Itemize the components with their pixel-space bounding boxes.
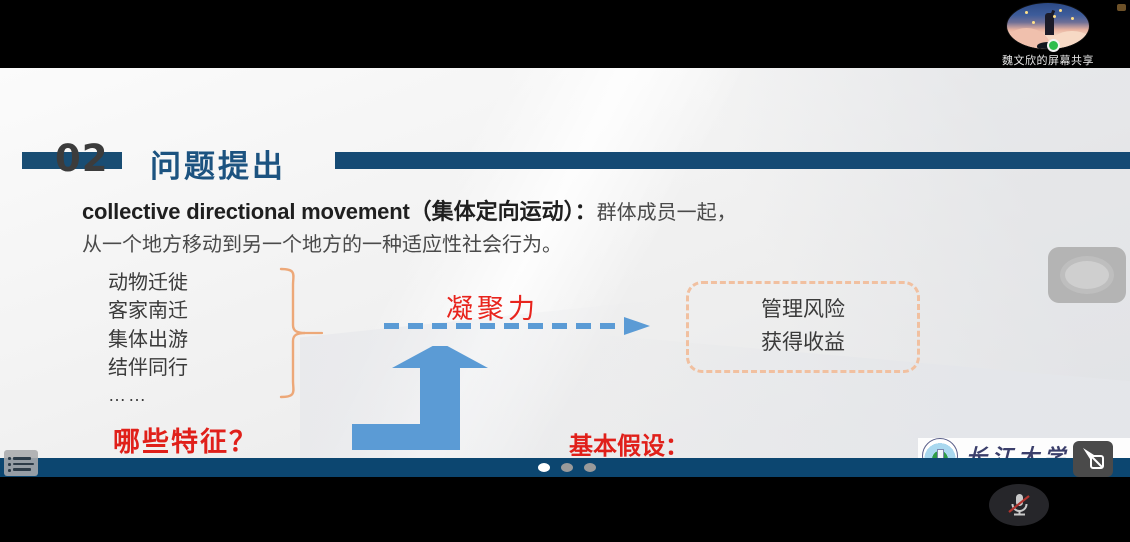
definition-line1-tail: 群体成员一起， (597, 202, 737, 224)
definition-chinese-term: （集体定向运动）： (410, 199, 597, 224)
avatar[interactable] (1006, 2, 1090, 50)
pagination-dot[interactable] (561, 463, 573, 472)
list-item: 动物迁徙 (108, 269, 188, 297)
pen-icon (1080, 445, 1106, 471)
avatar-star (1059, 9, 1062, 12)
topbar-indicator (1117, 4, 1126, 11)
hypothesis-line-1: 基本假设： (569, 431, 953, 458)
dashed-arrow-right-icon (382, 313, 652, 339)
annotate-pen-button[interactable] (1073, 441, 1113, 477)
screen-share-label: 魏文欣的屏幕共享 (968, 52, 1128, 66)
avatar-star (1053, 15, 1056, 18)
floating-thumbnail-inner (1065, 261, 1109, 289)
outcome-line-2: 获得收益 (761, 327, 845, 360)
meeting-bottom-bar (0, 477, 1130, 542)
list-item: 集体出游 (108, 326, 188, 354)
slide-pagination-dots[interactable] (538, 458, 598, 476)
avatar-star (1025, 11, 1028, 14)
pagination-dot[interactable] (538, 463, 550, 472)
outcome-line-1: 管理风险 (761, 294, 845, 327)
status-online-icon (1047, 39, 1060, 52)
hypothesis-text: 基本假设： 集体定向运动促进社会凝聚力的感知 (569, 431, 953, 458)
microphone-muted-icon (1005, 492, 1033, 518)
outcome-box: 管理风险 获得收益 (686, 281, 920, 373)
slide-menu-icon[interactable] (4, 450, 38, 476)
presentation-slide[interactable]: 02 问题提出 collective directional movement（… (0, 68, 1130, 458)
avatar-star (1032, 21, 1035, 24)
avatar-star (1071, 17, 1074, 20)
list-item: 结伴同行 (108, 354, 188, 382)
definition-line2: 从一个地方移动到另一个地方的一种适应性社会行为。 (82, 231, 1112, 259)
meeting-top-bar: 魏文欣的屏幕共享 (0, 0, 1130, 68)
list-item: …… (108, 383, 188, 409)
definition-paragraph: collective directional movement（集体定向运动）：… (82, 196, 1112, 260)
example-list: 动物迁徙 客家南迁 集体出游 结伴同行 …… (108, 269, 188, 408)
list-item: 客家南迁 (108, 297, 188, 325)
header-accent-bar-right (335, 152, 1130, 169)
bent-up-arrow-icon (352, 346, 552, 452)
floating-video-thumbnail[interactable] (1048, 247, 1126, 303)
curly-brace-icon (277, 267, 323, 399)
microphone-mute-button[interactable] (989, 484, 1049, 526)
definition-english-term: collective directional movement (82, 199, 410, 224)
screen-share-viewer: 02 问题提出 collective directional movement（… (0, 0, 1130, 542)
pagination-dot[interactable] (584, 463, 596, 472)
section-number: 02 (55, 137, 109, 180)
section-title: 问题提出 (150, 141, 286, 186)
feature-question: 哪些特征？ (113, 420, 258, 458)
